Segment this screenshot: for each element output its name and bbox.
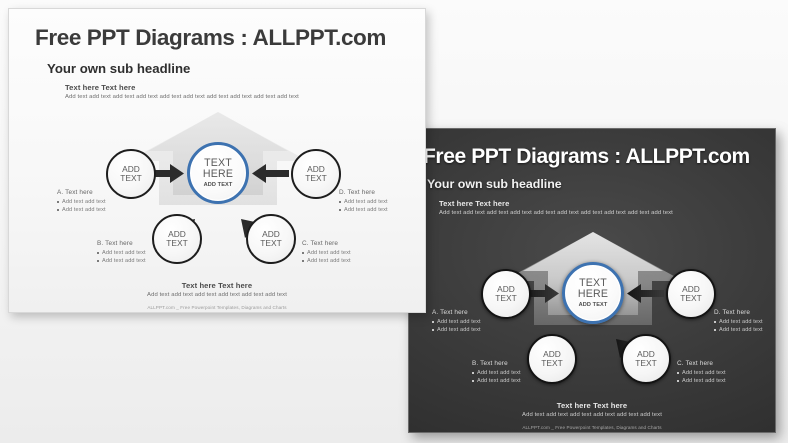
caption-c: C. Text here Add text add text Add text …	[677, 360, 726, 385]
center-node-line2: HERE	[578, 289, 608, 301]
intro-text-block: Text here Text here Add text add text ad…	[439, 199, 673, 216]
caption-c: C. Text here Add text add text Add text …	[302, 240, 351, 265]
node-b[interactable]: ADD TEXT	[527, 334, 577, 384]
node-b[interactable]: ADD TEXT	[152, 214, 202, 264]
list-item: Add text add text	[472, 378, 521, 384]
caption-d-bullets: Add text add text Add text add text	[339, 199, 388, 213]
credit-line: ALLPPT.com _ Free Powerpoint Templates, …	[9, 305, 425, 310]
intro-heading: Text here Text here	[65, 83, 299, 92]
list-item: Add text add text	[339, 199, 388, 205]
bottom-heading: Text here Text here	[9, 281, 425, 290]
node-d-line2: TEXT	[680, 294, 701, 303]
slide-title: Free PPT Diagrams : ALLPPT.com	[423, 145, 750, 169]
node-a[interactable]: ADD TEXT	[481, 269, 531, 319]
list-item: Add text add text	[57, 207, 106, 213]
intro-heading: Text here Text here	[439, 199, 673, 208]
node-a-line2: TEXT	[495, 294, 516, 303]
caption-b: B. Text here Add text add text Add text …	[97, 240, 146, 265]
caption-c-bullets: Add text add text Add text add text	[302, 250, 351, 264]
intro-body: Add text add text add text add text add …	[65, 94, 299, 100]
caption-d: D. Text here Add text add text Add text …	[339, 189, 388, 214]
caption-b-bullets: Add text add text Add text add text	[472, 370, 521, 384]
bottom-text-block: Text here Text here Add text add text ad…	[409, 401, 775, 418]
center-node-line2: HERE	[203, 169, 233, 181]
list-item: Add text add text	[302, 250, 351, 256]
center-node-line3: ADD TEXT	[579, 302, 608, 308]
bottom-text-block: Text here Text here Add text add text ad…	[9, 281, 425, 298]
list-item: Add text add text	[302, 258, 351, 264]
caption-b-heading: B. Text here	[97, 240, 146, 247]
center-node[interactable]: TEXT HERE ADD TEXT	[187, 142, 249, 204]
intro-text-block: Text here Text here Add text add text ad…	[65, 83, 299, 100]
list-item: Add text add text	[339, 207, 388, 213]
caption-d-heading: D. Text here	[714, 309, 763, 316]
node-b-line2: TEXT	[541, 359, 562, 368]
node-d-line2: TEXT	[305, 174, 326, 183]
caption-b-bullets: Add text add text Add text add text	[97, 250, 146, 264]
caption-a-heading: A. Text here	[432, 309, 481, 316]
slide-subtitle: Your own sub headline	[47, 61, 190, 76]
arrow-d-to-center	[252, 164, 289, 183]
caption-d: D. Text here Add text add text Add text …	[714, 309, 763, 334]
list-item: Add text add text	[472, 370, 521, 376]
caption-b: B. Text here Add text add text Add text …	[472, 360, 521, 385]
list-item: Add text add text	[677, 370, 726, 376]
slide-title: Free PPT Diagrams : ALLPPT.com	[35, 25, 386, 51]
intro-body: Add text add text add text add text add …	[439, 210, 673, 216]
list-item: Add text add text	[432, 327, 481, 333]
caption-a: A. Text here Add text add text Add text …	[432, 309, 481, 334]
node-d[interactable]: ADD TEXT	[666, 269, 716, 319]
caption-a-bullets: Add text add text Add text add text	[57, 199, 106, 213]
center-node[interactable]: TEXT HERE ADD TEXT	[562, 262, 624, 324]
list-item: Add text add text	[97, 258, 146, 264]
caption-d-bullets: Add text add text Add text add text	[714, 319, 763, 333]
slide-subtitle: Your own sub headline	[427, 177, 562, 191]
caption-c-heading: C. Text here	[677, 360, 726, 367]
credit-line: ALLPPT.com _ Free Powerpoint Templates, …	[409, 425, 775, 430]
list-item: Add text add text	[57, 199, 106, 205]
slide-light[interactable]: Free PPT Diagrams : ALLPPT.com Your own …	[8, 8, 426, 313]
node-c-line2: TEXT	[635, 359, 656, 368]
caption-c-bullets: Add text add text Add text add text	[677, 370, 726, 384]
caption-b-heading: B. Text here	[472, 360, 521, 367]
list-item: Add text add text	[432, 319, 481, 325]
bottom-heading: Text here Text here	[409, 401, 775, 410]
list-item: Add text add text	[97, 250, 146, 256]
node-b-line2: TEXT	[166, 239, 187, 248]
node-c[interactable]: ADD TEXT	[246, 214, 296, 264]
caption-a-bullets: Add text add text Add text add text	[432, 319, 481, 333]
list-item: Add text add text	[714, 327, 763, 333]
caption-d-heading: D. Text here	[339, 189, 388, 196]
node-a[interactable]: ADD TEXT	[106, 149, 156, 199]
list-item: Add text add text	[714, 319, 763, 325]
bottom-body: Add text add text add text add text add …	[9, 292, 425, 298]
bottom-body: Add text add text add text add text add …	[409, 412, 775, 418]
list-item: Add text add text	[677, 378, 726, 384]
node-a-line2: TEXT	[120, 174, 141, 183]
node-c[interactable]: ADD TEXT	[621, 334, 671, 384]
center-node-line3: ADD TEXT	[204, 182, 233, 188]
node-c-line2: TEXT	[260, 239, 281, 248]
node-d[interactable]: ADD TEXT	[291, 149, 341, 199]
caption-a: A. Text here Add text add text Add text …	[57, 189, 106, 214]
arrow-d-to-center	[627, 284, 664, 303]
caption-a-heading: A. Text here	[57, 189, 106, 196]
caption-c-heading: C. Text here	[302, 240, 351, 247]
slide-dark[interactable]: Free PPT Diagrams : ALLPPT.com Your own …	[408, 128, 776, 433]
